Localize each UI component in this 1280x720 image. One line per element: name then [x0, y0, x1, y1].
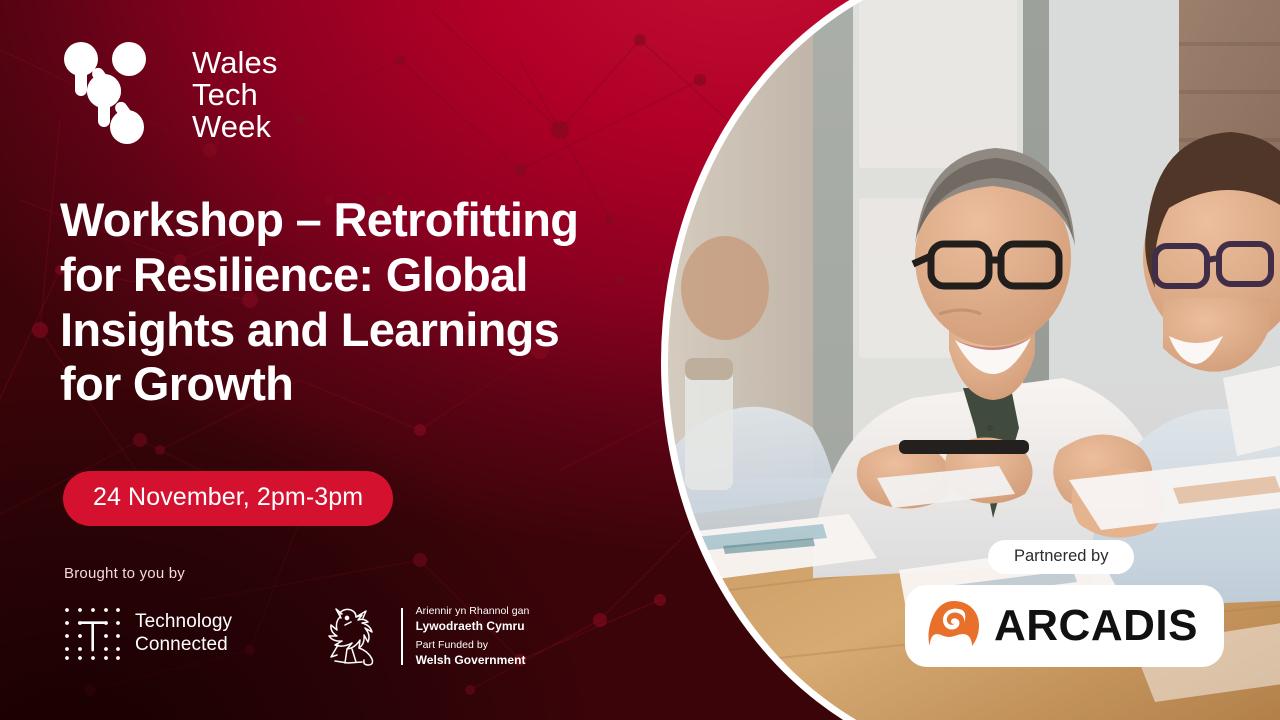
page-title: Workshop – Retrofitting for Resilience: …: [60, 193, 685, 412]
english-line-1: Part Funded by: [416, 638, 530, 652]
arcadis-partner-logo: ARCADIS: [905, 585, 1224, 667]
logo-divider: [401, 608, 403, 665]
welsh-dragon-icon: [318, 605, 392, 667]
welsh-government-text: Ariennir yn Rhannol gan Lywodraeth Cymru…: [412, 604, 530, 668]
event-promo-banner: Wales Tech Week Workshop – Retrofitting …: [0, 0, 1280, 720]
brought-to-you-by-label: Brought to you by: [64, 565, 185, 582]
welsh-line-2: Lywodraeth Cymru: [416, 618, 530, 634]
arcadis-mark-icon: [927, 600, 981, 652]
english-line-2: Welsh Government: [416, 652, 530, 668]
date-time-badge: 24 November, 2pm-3pm: [63, 471, 393, 526]
arcadis-wordmark: ARCADIS: [994, 604, 1198, 648]
technology-connected-wordmark: Technology Connected: [135, 610, 232, 656]
wales-tech-week-wordmark: Wales Tech Week: [192, 47, 277, 143]
technology-connected-mark: [63, 605, 121, 661]
partnered-by-label: Partnered by: [988, 540, 1134, 574]
technology-connected-logo: Technology Connected: [63, 605, 232, 661]
welsh-government-logo: Ariennir yn Rhannol gan Lywodraeth Cymru…: [318, 604, 529, 668]
wales-tech-week-mark: [58, 42, 176, 148]
wales-tech-week-logo: Wales Tech Week: [58, 42, 277, 148]
welsh-line-1: Ariennir yn Rhannol gan: [416, 604, 530, 618]
